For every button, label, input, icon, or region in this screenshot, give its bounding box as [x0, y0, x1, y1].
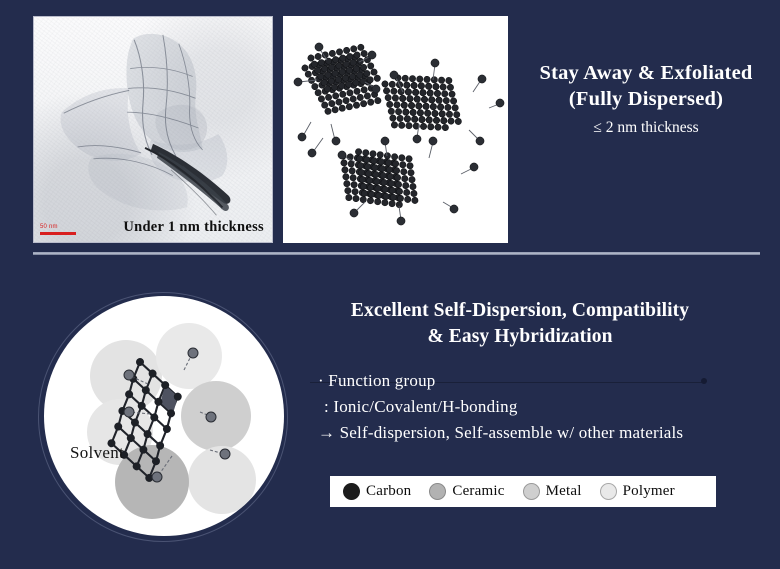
tem-micrograph-panel: 50 nm Under 1 nm thickness	[33, 16, 273, 243]
legend-item-carbon: Carbon	[343, 483, 411, 500]
tem-graphene-sheet-shape	[34, 17, 272, 242]
particle-blobs	[87, 323, 256, 519]
top-title-line-1: Stay Away & Exfoliated	[516, 60, 776, 86]
legend-label-carbon: Carbon	[366, 483, 411, 500]
solvent-label: Solvent	[70, 443, 124, 463]
legend-label-metal: Metal	[546, 483, 582, 500]
bottom-title-line-2: & Easy Hybridization	[300, 324, 740, 350]
slide-canvas: 50 nm Under 1 nm thickness	[0, 0, 780, 569]
top-subtitle: ≤ 2 nm thickness	[516, 118, 776, 138]
legend-swatch-carbon-icon	[343, 483, 360, 500]
solvent-dispersion-illustration	[44, 296, 284, 536]
solvent-circle	[44, 296, 284, 536]
dispersed-nanosheets-illustration	[283, 16, 508, 243]
scale-bar-label: 50 nm	[40, 223, 78, 231]
legend-label-polymer: Polymer	[623, 483, 675, 500]
bullet-list: · Function group : Ionic/Covalent/H-bond…	[318, 368, 683, 446]
nanosheet-model-panel	[283, 16, 508, 243]
bullet-item-3: → Self-dispersion, Self-assemble w/ othe…	[318, 420, 683, 446]
legend-item-ceramic: Ceramic	[429, 483, 504, 500]
tem-caption: Under 1 nm thickness	[123, 219, 264, 236]
bottom-title-block: Excellent Self-Dispersion, Compatibility…	[300, 298, 740, 350]
bullet-item-2: : Ionic/Covalent/H-bonding	[318, 394, 683, 420]
bottom-title-line-1: Excellent Self-Dispersion, Compatibility	[300, 298, 740, 324]
connector-endpoint-dot	[701, 378, 707, 384]
top-right-text-block: Stay Away & Exfoliated (Fully Dispersed)…	[516, 60, 776, 138]
legend-swatch-polymer-icon	[600, 483, 617, 500]
top-title-line-2: (Fully Dispersed)	[516, 86, 776, 112]
material-legend: Carbon Ceramic Metal Polymer	[330, 476, 716, 507]
scale-bar-line	[40, 232, 76, 235]
legend-swatch-metal-icon	[523, 483, 540, 500]
legend-swatch-ceramic-icon	[429, 483, 446, 500]
scale-bar: 50 nm	[40, 223, 78, 235]
legend-item-metal: Metal	[523, 483, 582, 500]
legend-label-ceramic: Ceramic	[452, 483, 504, 500]
section-divider	[33, 252, 760, 255]
legend-item-polymer: Polymer	[600, 483, 675, 500]
bullet-item-1: · Function group	[318, 368, 683, 394]
